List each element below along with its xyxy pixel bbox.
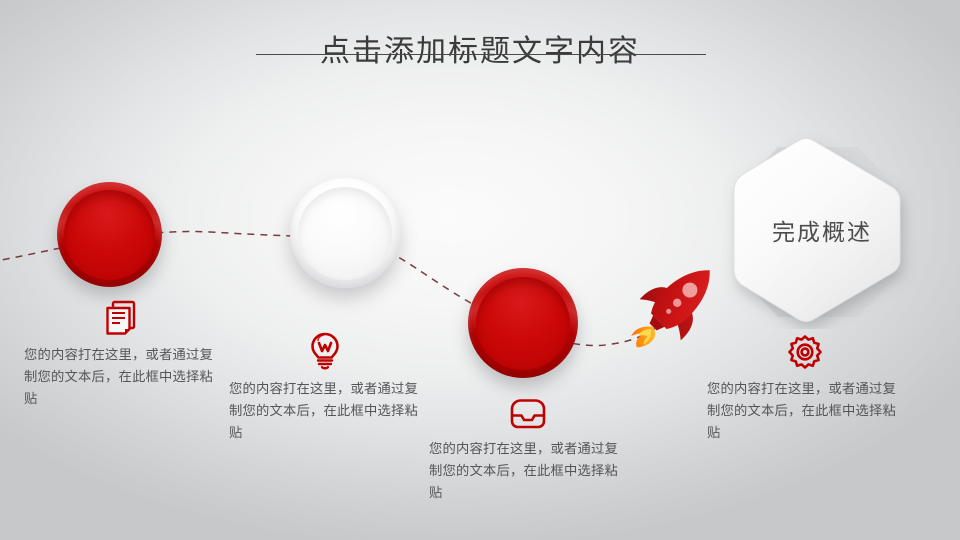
info-block-2: 您的内容打在这里，或者通过复制您的文本后，在此框中选择粘贴: [229, 330, 429, 444]
gear-icon: [707, 330, 960, 370]
hexagon-label: 完成概述: [706, 131, 930, 329]
info-block-1: 您的内容打在这里，或者通过复制您的文本后，在此框中选择粘贴: [24, 296, 224, 410]
info-block-3: 您的内容打在这里，或者通过复制您的文本后，在此框中选择粘贴: [429, 390, 629, 504]
title-divider: [256, 54, 706, 55]
milestone-node-2[interactable]: [290, 178, 400, 288]
page-title: 点击添加标题文字内容: [0, 32, 960, 72]
title-block: 点击添加标题文字内容: [0, 32, 960, 72]
slide-canvas: 点击添加标题文字内容: [0, 0, 960, 540]
info-block-4: 您的内容打在这里，或者通过复制您的文本后，在此框中选择粘贴: [707, 330, 907, 444]
info-text-1: 您的内容打在这里，或者通过复制您的文本后，在此框中选择粘贴: [24, 344, 224, 410]
hexagon-card[interactable]: 完成概述: [706, 131, 930, 329]
inbox-icon: [429, 390, 709, 430]
lightbulb-icon: [229, 330, 509, 370]
milestone-node-1[interactable]: [57, 182, 162, 287]
info-text-2: 您的内容打在这里，或者通过复制您的文本后，在此框中选择粘贴: [229, 378, 429, 444]
info-text-4: 您的内容打在这里，或者通过复制您的文本后，在此框中选择粘贴: [707, 378, 907, 444]
info-text-3: 您的内容打在这里，或者通过复制您的文本后，在此框中选择粘贴: [429, 438, 629, 504]
